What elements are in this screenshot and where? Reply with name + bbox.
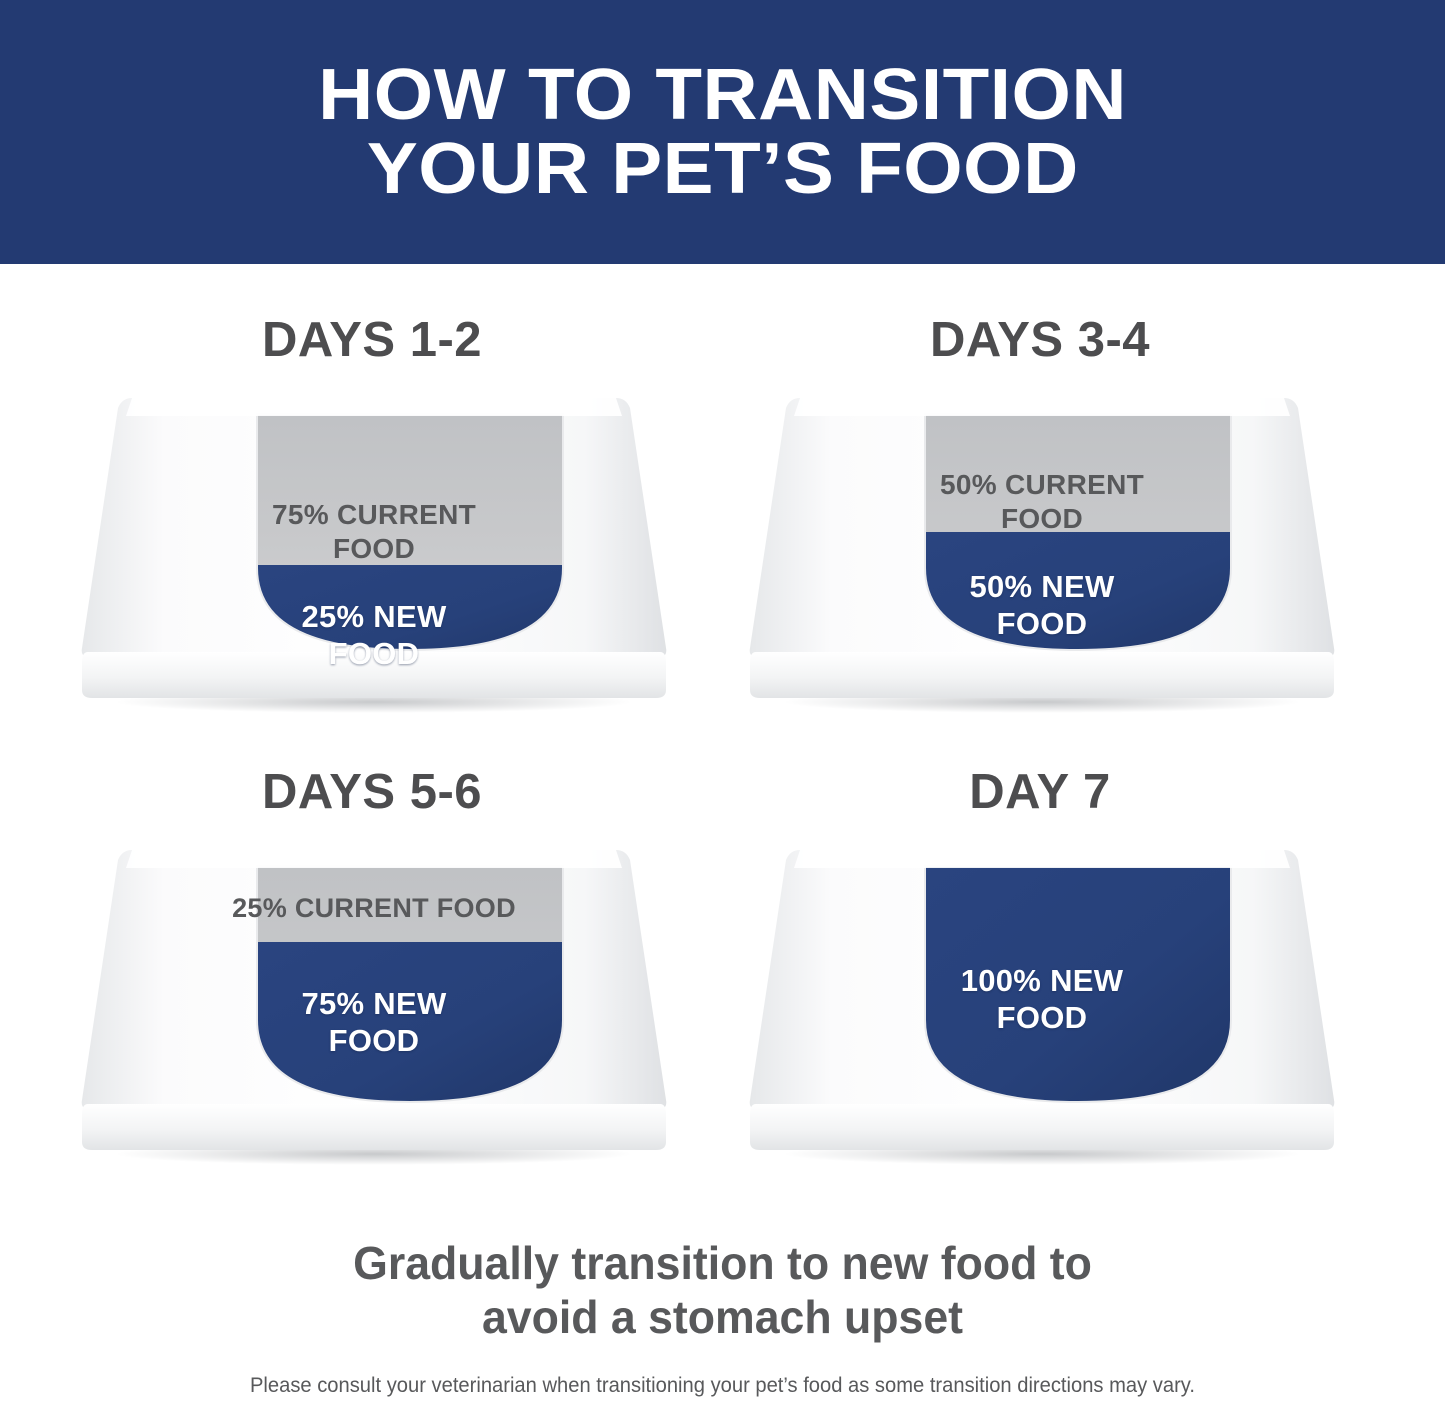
bowl-pedestal: [750, 1104, 1334, 1150]
step-card-day-7: DAY 7: [690, 764, 1390, 1219]
bowl-rim-highlight: [126, 850, 622, 868]
step-card-days-5-6: DAYS 5-6: [22, 764, 722, 1219]
header-title-line2: YOUR PET’S FOOD: [367, 132, 1079, 206]
bowl-illustration: [74, 842, 674, 1172]
header-title-line1: HOW TO TRANSITION: [318, 58, 1127, 132]
footer-tagline-line1: Gradually transition to new food to: [22, 1236, 1424, 1290]
bowl-pedestal: [82, 652, 666, 698]
footer-tagline: Gradually transition to new food to avoi…: [22, 1236, 1424, 1345]
step-card-days-1-2: DAYS 1-2: [22, 312, 722, 767]
transition-steps-grid: DAYS 1-2: [0, 264, 1445, 1220]
pet-bowl-graphic-days-1-2: 75% CURRENT FOOD 25% NEW FOOD: [74, 390, 674, 720]
bowl-rim-highlight: [794, 398, 1290, 416]
footer-tagline-line2: avoid a stomach upset: [22, 1290, 1424, 1344]
step-title-days-5-6: DAYS 5-6: [22, 764, 722, 820]
pet-bowl-graphic-day-7: 100% NEW FOOD: [742, 842, 1342, 1172]
bowl-illustration: [74, 390, 674, 720]
footer-disclaimer: Please consult your veterinarian when tr…: [29, 1374, 1416, 1398]
bowl-rim-highlight: [126, 398, 622, 416]
bowl-illustration: [742, 842, 1342, 1172]
infographic-page: HOW TO TRANSITION YOUR PET’S FOOD DAYS 1…: [0, 0, 1445, 1407]
bowl-rim-highlight: [794, 850, 1290, 868]
step-title-days-3-4: DAYS 3-4: [690, 312, 1390, 368]
header-banner: HOW TO TRANSITION YOUR PET’S FOOD: [0, 0, 1445, 264]
step-title-days-1-2: DAYS 1-2: [22, 312, 722, 368]
pet-bowl-graphic-days-5-6: 25% CURRENT FOOD 75% NEW FOOD: [74, 842, 674, 1172]
step-card-days-3-4: DAYS 3-4: [690, 312, 1390, 767]
bowl-pedestal: [82, 1104, 666, 1150]
pet-bowl-graphic-days-3-4: 50% CURRENT FOOD 50% NEW FOOD: [742, 390, 1342, 720]
bowl-illustration: [742, 390, 1342, 720]
bowl-pedestal: [750, 652, 1334, 698]
step-title-day-7: DAY 7: [690, 764, 1390, 820]
